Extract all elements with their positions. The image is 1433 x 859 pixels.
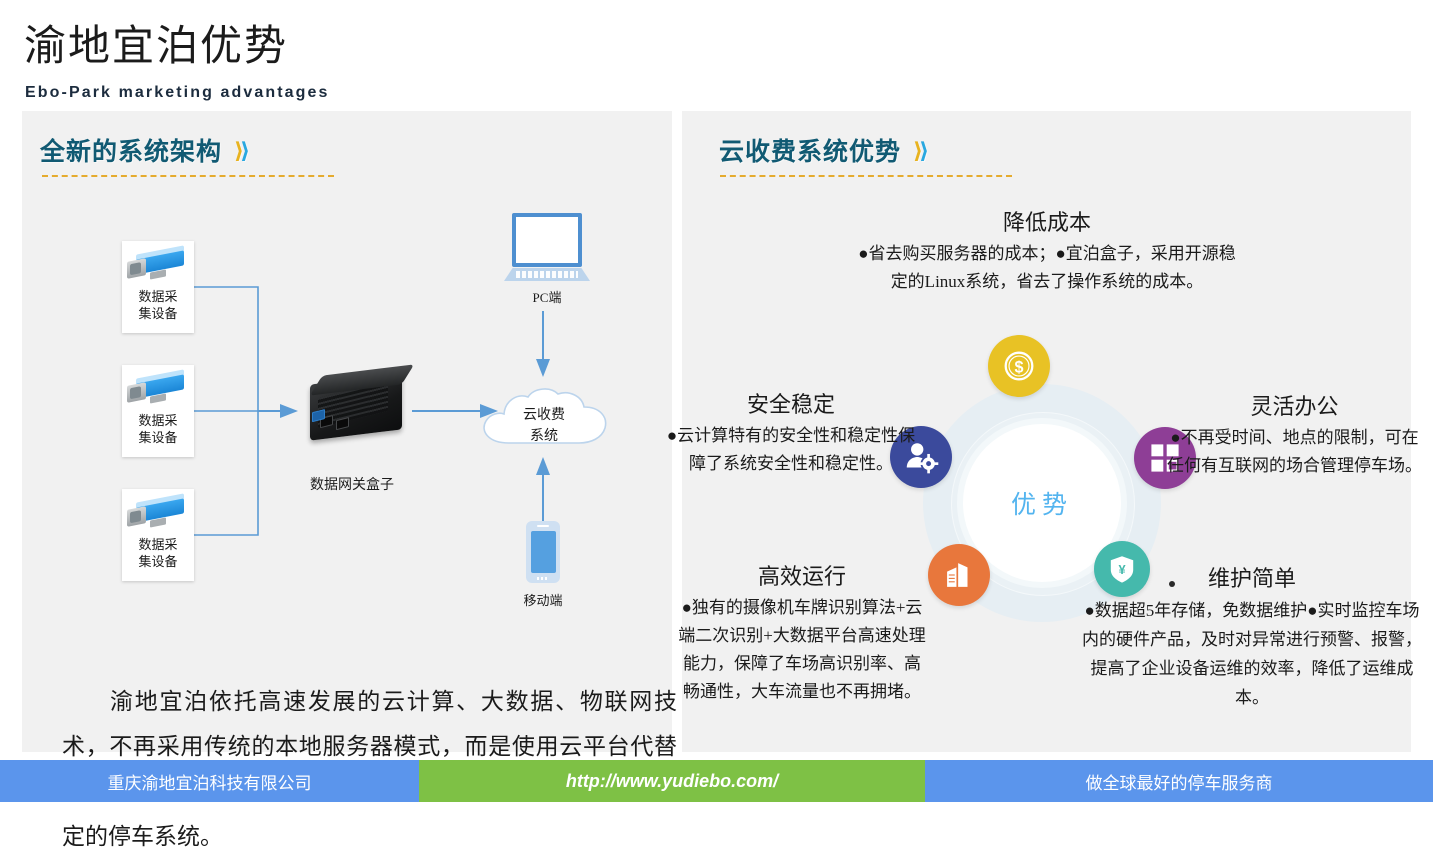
advantage-title-flex: 灵活办公 [1167, 389, 1422, 421]
architecture-diagram: 数据采 集设备 数据采 集设备 [22, 191, 672, 681]
mobile-node: 移动端 [526, 521, 586, 609]
advantage-title-cost: 降低成本 [852, 205, 1242, 237]
advantage-block-flex: 灵活办公 ●不再受时间、地点的限制，可在任何有互联网的场合管理停车场。 [1167, 389, 1422, 480]
page-title: 渝地宜泊优势 [24, 12, 288, 73]
gateway-device [310, 379, 420, 459]
right-panel-divider [720, 175, 1012, 177]
gateway-label: 数据网关盒子 [310, 474, 394, 494]
cloud-label: 云收费 系统 [474, 405, 614, 447]
camera-icon [124, 243, 192, 287]
cloud-node: 云收费 系统 [474, 381, 614, 455]
footer-url[interactable]: http://www.yudiebo.com/ [419, 760, 925, 802]
page-subtitle: Ebo-Park marketing advantages [25, 84, 330, 102]
advantage-body-cost: ●省去购买服务器的成本；●宜泊盒子，采用开源稳定的Linux系统，省去了操作系统… [852, 240, 1242, 296]
advantage-block-secure: 安全稳定 ●云计算特有的安全性和稳定性保障了系统安全性和稳定性。 [666, 387, 916, 478]
mobile-phone-icon [526, 521, 560, 583]
mobile-label: 移动端 [500, 590, 586, 609]
left-panel-title-text: 全新的系统架构 [40, 138, 222, 166]
advantage-title-maint: 维护简单 [1082, 561, 1422, 593]
keyboard-icon [504, 268, 590, 281]
device-label-2: 数据采 集设备 [138, 412, 177, 446]
advantage-block-maint: 维护简单 ●数据超5年存储，免数据维护●实时监控车场内的硬件产品，及时对异常进行… [1082, 561, 1422, 712]
device-card-2: 数据采 集设备 [122, 365, 194, 457]
chevron-double-right-icon: ⟩⟩ [913, 136, 925, 165]
advantage-body-fast: ●独有的摄像机车牌识别算法+云端二次识别+大数据平台高速处理能力，保障了车场高识… [677, 594, 927, 706]
advantages-wheel: 优势 $ ¥ 降低成本 ●省去购买服务器的成本；●宜泊盒子 [682, 189, 1411, 749]
advantage-block-cost: 降低成本 ●省去购买服务器的成本；●宜泊盒子，采用开源稳定的Linux系统，省去… [852, 205, 1242, 296]
right-panel: 云收费系统优势⟩⟩ 优势 $ ¥ [682, 111, 1411, 752]
advantage-title-secure: 安全稳定 [666, 387, 916, 419]
device-label-1: 数据采 集设备 [138, 288, 177, 322]
coin-dollar-icon: $ [988, 335, 1050, 397]
device-label-3: 数据采 集设备 [138, 536, 177, 570]
footer-company: 重庆渝地宜泊科技有限公司 [0, 760, 419, 802]
camera-icon [124, 367, 192, 411]
advantage-title-fast: 高效运行 [677, 559, 927, 591]
footer: 重庆渝地宜泊科技有限公司 http://www.yudiebo.com/ 做全球… [0, 760, 1433, 802]
left-panel-divider [42, 175, 334, 177]
advantage-body-flex: ●不再受时间、地点的限制，可在任何有互联网的场合管理停车场。 [1167, 424, 1422, 480]
advantage-body-maint: ●数据超5年存储，免数据维护●实时监控车场内的硬件产品，及时对异常进行预警、报警… [1082, 596, 1422, 712]
slide-root: 渝地宜泊优势 Ebo-Park marketing advantages 全新的… [0, 0, 1433, 802]
chevron-double-right-icon: ⟩⟩ [234, 136, 246, 165]
right-panel-title-text: 云收费系统优势 [719, 138, 901, 166]
left-panel-title: 全新的系统架构⟩⟩ [40, 132, 246, 168]
right-panel-title: 云收费系统优势⟩⟩ [719, 132, 925, 168]
footer-slogan: 做全球最好的停车服务商 [925, 760, 1433, 802]
monitor-icon [512, 213, 582, 267]
advantage-block-fast: 高效运行 ●独有的摄像机车牌识别算法+云端二次识别+大数据平台高速处理能力，保障… [677, 559, 927, 706]
advantage-body-secure: ●云计算特有的安全性和稳定性保障了系统安全性和稳定性。 [666, 422, 916, 478]
bar-chart-building-icon [928, 544, 990, 606]
left-panel: 全新的系统架构⟩⟩ [22, 111, 672, 752]
device-card-3: 数据采 集设备 [122, 489, 194, 581]
device-card-1: 数据采 集设备 [122, 241, 194, 333]
pc-label: PC端 [504, 287, 590, 306]
svg-text:$: $ [1015, 359, 1024, 377]
camera-icon [124, 491, 192, 535]
pc-node: PC端 [512, 213, 590, 306]
